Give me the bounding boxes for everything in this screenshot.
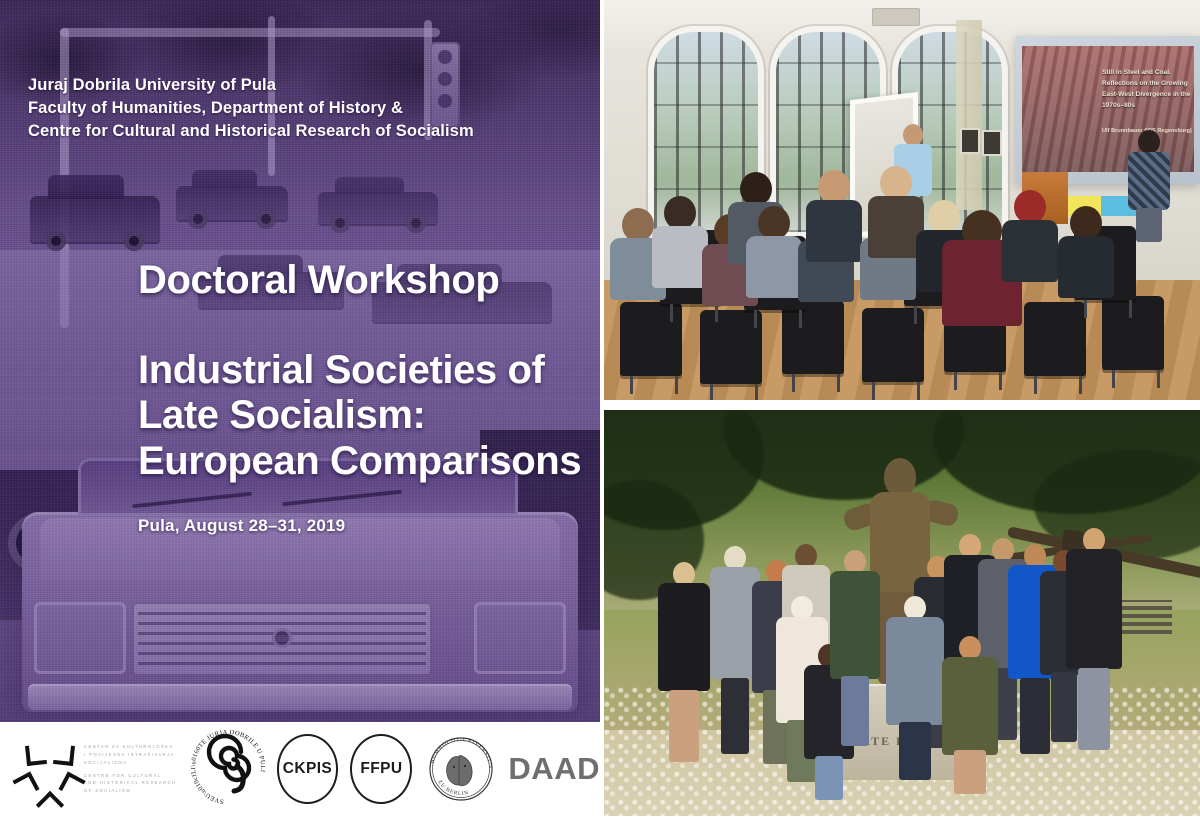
group-member [942,636,998,792]
logo-humboldt-universitaet: HUMBOLDT-UNIVERSIT\u00c4T ZU BERLIN [424,732,498,806]
ckpis-hr-line-1: CENTAR ZA KULTUROLOŠKA [84,743,177,751]
poster-date-location: Pula, August 28–31, 2019 [138,516,345,536]
ffpu-circle-label: FFPU [360,760,402,778]
group-member [886,596,944,782]
ckpis-hr-line-3: SOCIJALIZMA [84,759,177,767]
slide-title-line-1: Still in Steel and Coal. [1102,68,1198,79]
logo-daad: DAAD [508,751,600,787]
logo-ffpu-circle: FFPU [350,734,412,804]
photo-group-at-monument: MATE PARLOV [604,410,1200,816]
workshop-title-line-2: Late Socialism: [138,393,600,439]
sponsor-logo-bar: CENTAR ZA KULTUROLOŠKA I POVIJESNA ISTRA… [0,722,600,816]
slide-title-line-4: 1970s–80s [1102,101,1198,112]
ckpis-en-line-2: AND HISTORICAL RESEARCH [84,779,177,787]
slide-title-line-3: East-West Divergence in the [1102,90,1198,101]
workshop-poster: Juraj Dobrila University of Pula Faculty… [0,0,600,816]
conference-photo-collage: Juraj Dobrila University of Pula Faculty… [0,0,1200,816]
audience-seating [604,150,1200,400]
logo-ckpis: CENTAR ZA KULTUROLOŠKA I POVIJESNA ISTRA… [6,733,177,805]
photo-lecture-hall: Still in Steel and Coal. Reflections on … [604,0,1200,400]
slide-title-text: Still in Steel and Coal. Reflections on … [1102,68,1198,112]
group-member [830,550,880,750]
logo-ckpis-circle: CKPIS [277,734,339,804]
ckpis-wordmark-text: CENTAR ZA KULTUROLOŠKA I POVIJESNA ISTRA… [84,743,177,795]
event-type-heading: Doctoral Workshop [138,258,600,304]
organizer-line-1: Juraj Dobrila University of Pula [28,74,576,97]
poster-organizer-block: Juraj Dobrila University of Pula Faculty… [28,74,576,142]
workshop-title-line-1: Industrial Societies of [138,348,600,394]
ckpis-hr-line-2: I POVIJESNA ISTRAŽIVANJA [84,751,177,759]
ckpis-en-line-3: OF SOCIALISM [84,787,177,795]
poster-title-block: Doctoral Workshop Industrial Societies o… [138,258,600,484]
ckpis-en-line-1: CENTRE FOR CULTURAL [84,772,177,780]
organizer-line-2: Faculty of Humanities, Department of His… [28,97,576,120]
ceiling-vent [872,8,920,26]
group-member [658,562,710,762]
group-member [1066,528,1122,754]
ckpis-circle-label: CKPIS [283,760,332,778]
slide-title-line-2: Reflections on the Growing [1102,79,1198,90]
organizer-line-3: Centre for Cultural and Historical Resea… [28,120,576,143]
ckpis-star-icon [10,733,76,805]
workshop-title-line-3: European Comparisons [138,439,600,485]
logo-juraj-dobrila-university: SVEU\u010cILI\u0160TE JURJA DOBRILE U PU… [191,730,265,808]
